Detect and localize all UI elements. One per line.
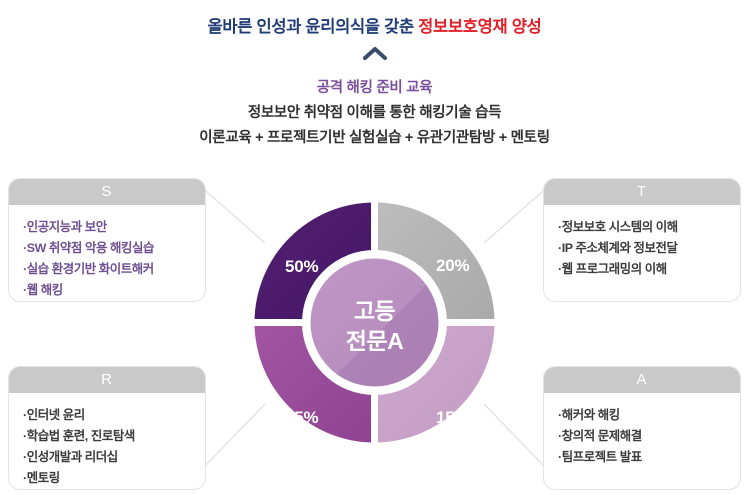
list-item: ·학습법 훈련, 진로탐색 bbox=[23, 426, 205, 447]
list-item: ·웹 해킹 bbox=[23, 280, 205, 301]
info-box-t-header: T bbox=[544, 179, 740, 205]
list-item: ·웹 프로그래밍의 이해 bbox=[558, 259, 740, 280]
donut-label-t: 20% bbox=[436, 256, 469, 276]
info-box-a-letter: A bbox=[636, 372, 647, 388]
list-item: ·정보보호 시스템의 이해 bbox=[558, 217, 740, 238]
info-box-r-header: R bbox=[9, 367, 205, 393]
info-box-a[interactable]: A ·해커와 해킹 ·창의적 문제해결 ·팀프로젝트 발표 bbox=[543, 366, 741, 490]
list-item: ·창의적 문제해결 bbox=[558, 426, 740, 447]
info-box-s-body: ·인공지능과 보안 ·SW 취약점 악용 해킹실습 ·실습 환경기반 화이트해커… bbox=[9, 205, 205, 302]
list-item: ·실습 환경기반 화이트해커 bbox=[23, 259, 205, 280]
list-item: ·IP 주소체계와 정보전달 bbox=[558, 238, 740, 259]
donut-label-r: 15% bbox=[285, 408, 318, 428]
info-box-a-body: ·해커와 해킹 ·창의적 문제해결 ·팀프로젝트 발표 bbox=[544, 393, 740, 480]
info-box-r[interactable]: R ·인터넷 윤리 ·학습법 훈련, 진로탐색 ·인성개발과 리더십 ·멘토링 bbox=[8, 366, 206, 490]
info-box-r-letter: R bbox=[101, 372, 113, 388]
list-item: ·인공지능과 보안 bbox=[23, 217, 205, 238]
list-item: ·인터넷 윤리 bbox=[23, 405, 205, 426]
list-item: ·팀프로젝트 발표 bbox=[558, 447, 740, 468]
list-item: ·SW 취약점 악용 해킹실습 bbox=[23, 238, 205, 259]
donut-label-a: 15% bbox=[436, 408, 469, 428]
info-box-t-body: ·정보보호 시스템의 이해 ·IP 주소체계와 정보전달 ·웹 프로그래밍의 이… bbox=[544, 205, 740, 292]
info-box-t[interactable]: T ·정보보호 시스템의 이해 ·IP 주소체계와 정보전달 ·웹 프로그래밍의… bbox=[543, 178, 741, 302]
donut-center-circle bbox=[311, 259, 439, 387]
info-box-s[interactable]: S ·인공지능과 보안 ·SW 취약점 악용 해킹실습 ·실습 환경기반 화이트… bbox=[8, 178, 206, 302]
info-box-s-letter: S bbox=[101, 184, 112, 200]
donut-label-s: 50% bbox=[285, 257, 318, 277]
info-box-a-header: A bbox=[544, 367, 740, 393]
info-box-r-body: ·인터넷 윤리 ·학습법 훈련, 진로탐색 ·인성개발과 리더십 ·멘토링 bbox=[9, 393, 205, 490]
info-box-s-header: S bbox=[9, 179, 205, 205]
list-item: ·멘토링 bbox=[23, 468, 205, 489]
list-item: ·인성개발과 리더십 bbox=[23, 447, 205, 468]
list-item: ·해커와 해킹 bbox=[558, 405, 740, 426]
info-box-t-letter: T bbox=[637, 184, 647, 200]
infographic-root: 올바른 인성과 윤리의식을 갖춘 정보보호영재 양성 공격 해킹 준비 교육 정… bbox=[0, 0, 749, 495]
